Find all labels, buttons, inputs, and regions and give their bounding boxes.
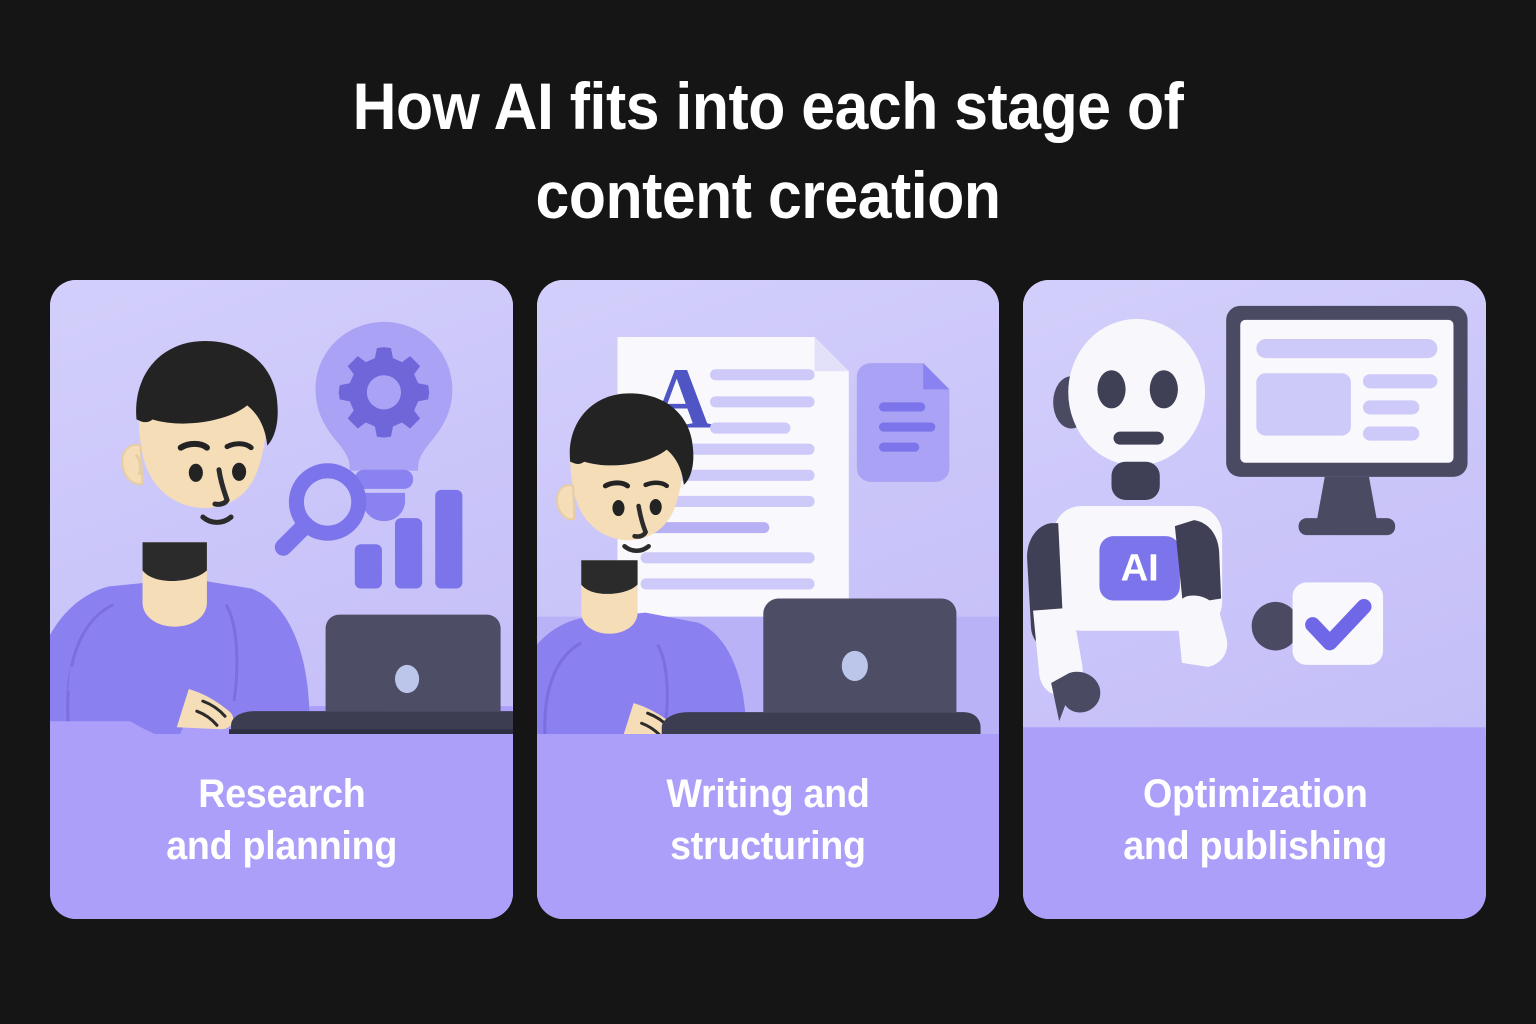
page-title: How AI fits into each stage of content c… bbox=[61, 62, 1474, 240]
caption-line-2: and publishing bbox=[1123, 821, 1387, 872]
stage-card-optimization-and-publishing[interactable]: AI Optimizat bbox=[1023, 280, 1486, 919]
ai-badge-label: AI bbox=[1121, 546, 1159, 589]
illustration-research-and-planning bbox=[50, 280, 513, 734]
caption-line-1: Optimization bbox=[1142, 769, 1367, 820]
stage-card-caption-optimization: Optimization and publishing bbox=[1023, 734, 1486, 919]
caption-line-1: Research bbox=[198, 769, 365, 820]
magnifier-icon bbox=[283, 471, 358, 547]
person-icon bbox=[50, 341, 309, 734]
caption-line-2: structuring bbox=[670, 821, 866, 872]
caption-line-2: and planning bbox=[166, 821, 397, 872]
page-title-line-1: How AI fits into each stage of bbox=[61, 62, 1474, 151]
stage-card-writing-and-structuring[interactable]: A bbox=[537, 280, 1000, 919]
illustration-optimization-and-publishing: AI bbox=[1023, 280, 1486, 734]
checkmark-card-icon bbox=[1293, 582, 1384, 664]
illustration-writing-and-structuring: A bbox=[537, 280, 1000, 734]
stage-card-caption-writing: Writing and structuring bbox=[537, 734, 1000, 919]
caption-line-1: Writing and bbox=[666, 769, 869, 820]
page-title-line-2: content creation bbox=[61, 151, 1474, 240]
file-icon bbox=[857, 363, 950, 482]
desk-surface bbox=[1023, 727, 1486, 734]
lightbulb-gear-icon bbox=[316, 322, 453, 521]
infographic-canvas: How AI fits into each stage of content c… bbox=[0, 0, 1536, 1024]
monitor-icon bbox=[1227, 306, 1468, 535]
stage-card-caption-research: Research and planning bbox=[50, 734, 513, 919]
stage-card-row: Research and planning A bbox=[50, 280, 1486, 919]
stage-card-research-and-planning[interactable]: Research and planning bbox=[50, 280, 513, 919]
